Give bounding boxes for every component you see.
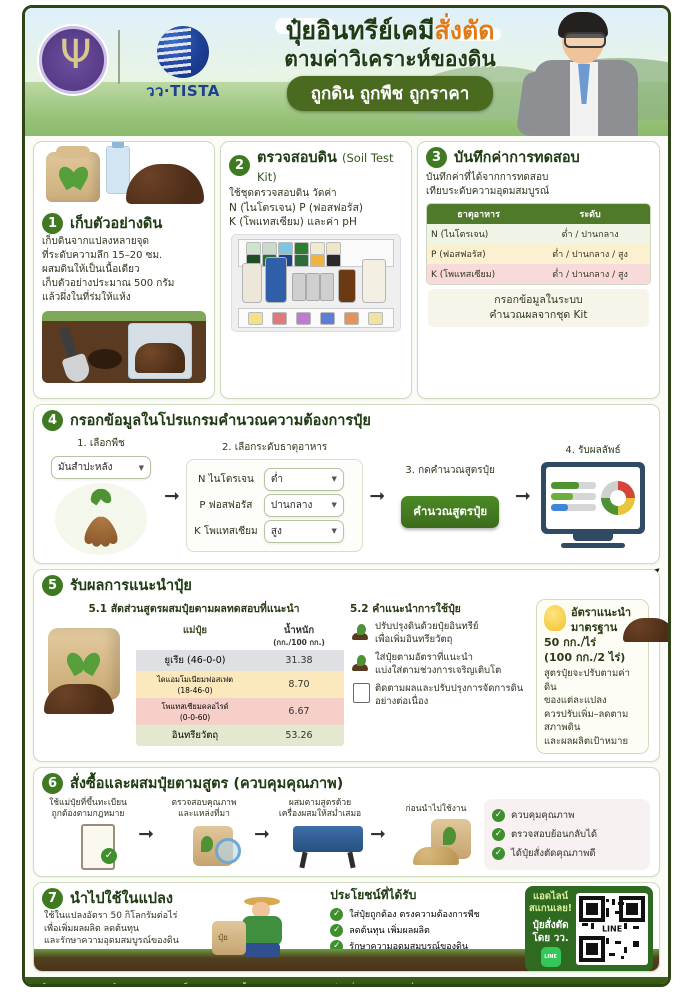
column-header-weight: น้ำหนัก (กก./100 กก.) — [254, 620, 344, 650]
step-3-line: เทียบระดับความอุดมสมบูรณ์ — [426, 185, 651, 199]
color-chip — [248, 312, 263, 325]
rate-title-line: 50 กก./ไร่ — [544, 636, 596, 649]
footer-text: หมายเหตุ : การใช้ชุดตรวจสอบดินเป็นการประ… — [55, 981, 487, 987]
rate-body: สูตรปุ๋ยจะปรับตามค่าดิน ของแต่ละแปลง ควร… — [544, 665, 641, 748]
rate-tip-box: อัตราแนะนำมาตรฐาน 50 กก./ไร่ (100 กก./2 … — [536, 599, 649, 754]
table-row: ไดแอมโมเนียมฟอสเฟต (18-46-0) 8.70 — [136, 671, 344, 698]
bag-magnifier-icon — [159, 822, 249, 870]
soil-test-kit-photo — [231, 234, 401, 332]
farmer-illustration: ปุ๋ย — [230, 897, 296, 957]
mixer-machine-icon — [275, 822, 365, 870]
cassava-plant-illustration — [55, 483, 147, 555]
arrow-right-icon: ➞ — [369, 485, 385, 507]
tistr-logo: วว·TISTA — [135, 26, 231, 103]
cell-name: โพแทสเซียมคลอไรด์ (0-0-60) — [136, 698, 254, 725]
item-line: ถูกต้องตามกฎหมาย — [43, 809, 133, 820]
step-3-title: บันทึกค่าการทดสอบ — [454, 146, 580, 169]
logo-divider — [118, 30, 120, 84]
chevron-down-icon: ▼ — [332, 527, 337, 535]
cell-nutrient: P (ฟอสฟอรัส) — [427, 244, 530, 264]
table-row: K (โพแทสเซียม) ต่ำ / ปานกลาง / สูง — [427, 264, 650, 284]
table-header-row: ธาตุอาหาร ระดับ — [427, 204, 650, 224]
globe-icon — [157, 26, 209, 78]
npk-label-k: K โพแทสเซียม — [194, 524, 258, 539]
advice-line: อย่างต่อเนื่อง — [375, 696, 428, 707]
rate-body-line: และผลผลิตเป้าหมาย — [544, 735, 641, 749]
color-chip — [344, 312, 359, 325]
cell-nutrient: K (โพแทสเซียม) — [427, 264, 530, 284]
step-3-line: บันทึกค่าที่ได้จากการทดสอบ — [426, 171, 651, 185]
column-header-base-fertilizer: แม่ปุ๋ย — [136, 620, 254, 650]
fertilizer-bag-illustration — [44, 622, 130, 718]
npk-select-n[interactable]: ต่ำ ▼ — [264, 468, 344, 491]
crop-select[interactable]: มันสำปะหลัง ▼ — [51, 456, 151, 479]
crop-select-value: มันสำปะหลัง — [58, 460, 112, 475]
step-6-item-2: ตรวจสอบคุณภาพ และแหล่งที่มา — [159, 798, 249, 870]
npk-row-k: K โพแทสเซียม สูง ▼ — [194, 520, 355, 543]
reagent-bottle-icon — [338, 269, 356, 303]
step-4-title: กรอกข้อมูลในโปรแกรมคำนวณความต้องการปุ๋ย — [70, 409, 371, 432]
table-row: อินทรียวัตถุ 53.26 — [136, 725, 344, 746]
color-chip — [310, 254, 325, 267]
advice-text: ใส่ปุ๋ยตามอัตราที่แนะนำ แบ่งใส่ตามช่วงกา… — [375, 651, 501, 677]
title-block: ปุ๋ยอินทรีย์เคมีสั่งตัด ตามค่าวิเคราะห์ข… — [225, 16, 555, 111]
benefits-title: ประโยชน์ที่ได้รับ — [330, 886, 519, 905]
npk-row-n: N ไนโตรเจน ต่ำ ▼ — [194, 468, 355, 491]
item-line: และแหล่งที่มา — [159, 809, 249, 820]
step-1-line: เก็บดินจากแปลงหลายจุด — [42, 235, 206, 249]
chevron-down-icon: ▼ — [332, 475, 337, 483]
cell-name: ไดแอมโมเนียมฟอสเฟต (18-46-0) — [136, 671, 254, 698]
step-number-badge: 2 — [229, 155, 250, 176]
step-number-badge: 1 — [42, 213, 63, 234]
step-7-body: 7 นำไปใช้ในแปลง ใช้ในแปลงอัตรา 50 กิโลกร… — [34, 883, 659, 971]
line-qr-block[interactable]: แอดไลน์ สแกนเลย! ปุ๋ยสั่งตัด โดย วว. — [525, 883, 659, 971]
sprout-icon — [350, 651, 370, 671]
step-6-item-3: ผสมตามสูตรด้วย เครื่องผสมให้สม่ำเสมอ — [275, 798, 365, 870]
soil-pellets-icon — [126, 164, 204, 204]
npk-label-n: N ไนโตรเจน — [194, 472, 258, 487]
step-5-title: รับผลการแนะนำปุ๋ย — [70, 574, 192, 597]
step-3-body: บันทึกค่าที่ได้จากการทดสอบ เทียบระดับควา… — [418, 171, 659, 201]
step-5-1-subtitle: 5.1 สัดส่วนสูตรผสมปุ๋ยตามผลทดสอบที่แนะนำ — [44, 600, 344, 617]
step-4-section: 4 กรอกข้อมูลในโปรแกรมคำนวณความต้องการปุ๋… — [33, 404, 660, 564]
cell-weight: 6.67 — [254, 703, 344, 720]
list-item: ใส่ปุ๋ยตามอัตราที่แนะนำ แบ่งใส่ตามช่วงกา… — [350, 651, 530, 677]
table-row: N (ไนโตรเจน) ต่ำ / ปานกลาง — [427, 224, 650, 244]
qr-head-line: สแกนเลย! — [529, 903, 572, 915]
npk-value-k: สูง — [271, 524, 282, 539]
advice-line: เพื่อเพิ่มอินทรียวัตถุ — [375, 634, 452, 645]
step-3-note: กรอกข้อมูลในระบบ คำนวณผลจากชุด Kit — [428, 289, 649, 327]
chevron-down-icon: ▼ — [332, 501, 337, 509]
step-1-header: 1 เก็บตัวอย่างดิน — [34, 208, 214, 235]
calculate-column: 3. กดคำนวณสูตรปุ๋ย คำนวณสูตรปุ๋ย — [391, 463, 509, 528]
rate-body-line: ควรปรับเพิ่ม–ลดตามสภาพดิน — [544, 708, 641, 735]
footer-note: 📣 หมายเหตุ : การใช้ชุดตรวจสอบดินเป็นการป… — [25, 977, 668, 987]
step-number-badge: 6 — [42, 773, 63, 794]
result-column: 4. รับผลลัพธ์ — [537, 443, 649, 548]
arrow-right-icon: ➞ — [138, 823, 154, 845]
megaphone-icon: 📣 — [35, 982, 49, 988]
arrow-right-icon: ➞ — [164, 485, 180, 507]
page-title: ปุ๋ยอินทรีย์เคมีสั่งตัด — [225, 16, 555, 46]
fertilizer-formula-table: แม่ปุ๋ย น้ำหนัก (กก./100 กก.) ยูเรีย (46… — [136, 620, 344, 746]
qr-card[interactable]: แอดไลน์ สแกนเลย! ปุ๋ยสั่งตัด โดย วว. — [525, 886, 653, 971]
clipboard-check-icon: ✓ — [43, 822, 133, 870]
bottle-icon — [106, 146, 130, 194]
cell-weight: 31.38 — [254, 652, 344, 669]
step-5-body: 5.1 สัดส่วนสูตรผสมปุ๋ยตามผลทดสอบที่แนะนำ… — [34, 599, 659, 761]
person-illustration — [514, 10, 664, 136]
lightbulb-icon — [544, 605, 566, 631]
leaf-icon — [80, 650, 104, 677]
step-3-header: 3 บันทึกค่าการทดสอบ — [418, 142, 659, 171]
advice-list: ปรับปรุงดินด้วยปุ๋ยอินทรีย์ เพื่อเพิ่มอิ… — [350, 620, 530, 708]
column-header-nutrient: ธาตุอาหาร — [427, 204, 530, 224]
step-6-item-4: ก่อนนำไปใช้งาน — [391, 804, 481, 865]
reagent-bottle-icon — [265, 257, 287, 303]
fertilizer-bag-icon — [391, 817, 481, 865]
cell-name: อินทรียวัตถุ — [136, 725, 254, 746]
crop-select-label: 1. เลือกพืช — [44, 436, 158, 451]
item-line: ก่อนนำไปใช้งาน — [391, 804, 481, 815]
note-line: กรอกข้อมูลในระบบ — [431, 293, 646, 308]
step-7-title: นำไปใช้ในแปลง — [70, 887, 173, 910]
npk-select-k[interactable]: สูง ▼ — [264, 520, 344, 543]
trident-emblem-logo — [39, 26, 107, 94]
cell-level: ต่ำ / ปานกลาง / สูง — [530, 264, 650, 284]
column-header-level: ระดับ — [530, 204, 650, 224]
advice-line: ติดตามผลและปรับปรุงการจัดการดิน — [375, 683, 523, 694]
result-label: 4. รับผลลัพธ์ — [537, 443, 649, 458]
step-5-2-subtitle: 5.2 คำแนะนำการใช้ปุ๋ย — [350, 600, 530, 617]
poster-header: วว·TISTA ปุ๋ยอินทรีย์เคมีสั่งตัด ตามค่าว… — [25, 8, 668, 136]
poster-frame: วว·TISTA ปุ๋ยอินทรีย์เคมีสั่งตัด ตามค่าว… — [22, 5, 671, 987]
checklist-item: ✓ ได้ปุ๋ยสั่งตัดคุณภาพดี — [492, 846, 642, 861]
step-6-item-1: ใช้แม่ปุ๋ยที่ขึ้นทะเบียน ถูกต้องตามกฎหมา… — [43, 798, 133, 870]
table-header-row: แม่ปุ๋ย น้ำหนัก (กก./100 กก.) — [136, 620, 344, 650]
step-6-header: 6 สั่งซื้อและผสมปุ๋ยตามสูตร (ควบคุมคุณภา… — [34, 768, 659, 797]
benefit-item: ✓ ลดต้นทุน เพิ่มผลผลิต — [330, 923, 519, 937]
advice-text: ติดตามผลและปรับปรุงการจัดการดิน อย่างต่อ… — [375, 682, 523, 708]
cell-name-sub: (0-0-60) — [138, 713, 252, 722]
advice-text: ปรับปรุงดินด้วยปุ๋ยอินทรีย์ เพื่อเพิ่มอิ… — [375, 620, 478, 646]
nutrient-select-label: 2. เลือกระดับธาตุอาหาร — [186, 440, 363, 455]
test-vial-icon — [292, 273, 306, 301]
rate-body-line: สูตรปุ๋ยจะปรับตามค่าดิน — [544, 667, 641, 694]
npk-value-n: ต่ำ — [271, 472, 283, 487]
weight-label: น้ำหนัก — [284, 625, 314, 636]
formula-table-block: 5.1 สัดส่วนสูตรผสมปุ๋ยตามผลทดสอบที่แนะนำ… — [44, 599, 344, 754]
brand-text: วว·TISTA — [135, 79, 231, 103]
list-item: ปรับปรุงดินด้วยปุ๋ยอินทรีย์ เพื่อเพิ่มอิ… — [350, 620, 530, 646]
monitor-icon — [541, 462, 645, 534]
checklist-item: ✓ ควบคุมคุณภาพ — [492, 808, 642, 823]
step-6-title: สั่งซื้อและผสมปุ๋ยตามสูตร (ควบคุมคุณภาพ) — [70, 772, 343, 795]
npk-select-p[interactable]: ปานกลาง ▼ — [264, 494, 344, 517]
sack-icon — [46, 152, 100, 202]
item-line: ตรวจสอบคุณภาพ — [159, 798, 249, 809]
qr-code-image[interactable]: LINE — [576, 893, 648, 965]
result-bar — [551, 482, 596, 489]
chevron-down-icon: ▼ — [139, 464, 144, 472]
soil-pellets-icon — [623, 618, 671, 642]
item-line: ใช้แม่ปุ๋ยที่ขึ้นทะเบียน — [43, 798, 133, 809]
line-app-icon — [541, 947, 561, 967]
step-2-body: ใช้ชุดตรวจสอบดิน วัดค่า N (ไนโตรเจน) P (… — [221, 187, 411, 231]
rate-body-line: ของแต่ละแปลง — [544, 694, 641, 708]
tagline-banner: ถูกดิน ถูกพืช ถูกราคา — [287, 76, 494, 111]
step-1-line: แล้วผึ่งในที่ร่มให้แห้ง — [42, 291, 206, 305]
check-icon: ✓ — [492, 847, 505, 860]
step-4-header: 4 กรอกข้อมูลในโปรแกรมคำนวณความต้องการปุ๋… — [34, 405, 659, 434]
qr-center-label: LINE — [600, 925, 624, 934]
cell-level: ต่ำ / ปานกลาง — [530, 224, 650, 244]
step-number-badge: 3 — [426, 147, 447, 168]
color-chip — [320, 312, 335, 325]
npk-value-p: ปานกลาง — [271, 498, 312, 513]
qr-sub-line: โดย วว. — [529, 932, 572, 945]
monitor-base — [561, 543, 625, 548]
cell-name: ยูเรีย (46-0-0) — [136, 650, 254, 671]
title-main: ปุ๋ยอินทรีย์เคมี — [286, 16, 435, 45]
checklist-label: ตรวจสอบย้อนกลับได้ — [511, 827, 597, 842]
step-2-card: 2 ตรวจสอบดิน (Soil Test Kit) ใช้ชุดตรวจส… — [220, 141, 412, 399]
standard-rate-block: อัตราแนะนำมาตรฐาน 50 กก./ไร่ (100 กก./2 … — [536, 599, 649, 754]
fertilizer-illustration — [40, 146, 208, 208]
check-icon: ✓ — [330, 924, 343, 937]
reagent-bottle-icon — [242, 263, 262, 303]
step-6-section: 6 สั่งซื้อและผสมปุ๋ยตามสูตร (ควบคุมคุณภา… — [33, 767, 660, 877]
shovel-icon — [59, 326, 80, 363]
list-item: ติดตามผลและปรับปรุงการจัดการดิน อย่างต่อ… — [350, 682, 530, 708]
cell-level: ต่ำ / ปานกลาง / สูง — [530, 244, 650, 264]
steps-1-3-row: 1 เก็บตัวอย่างดิน เก็บดินจากแปลงหลายจุด … — [33, 141, 660, 399]
checklist-label: ได้ปุ๋ยสั่งตัดคุณภาพดี — [511, 846, 596, 861]
result-bar — [551, 504, 596, 511]
advice-line: แบ่งใส่ตามช่วงการเจริญเติบโต — [375, 665, 501, 676]
step-1-line: เก็บตัวอย่างประมาณ 500 กรัม — [42, 277, 206, 291]
npk-row-p: P ฟอสฟอรัส ปานกลาง ▼ — [194, 494, 355, 517]
monitor-stand — [573, 534, 613, 541]
step-2-line: ใช้ชุดตรวจสอบดิน วัดค่า — [229, 187, 403, 201]
check-icon: ✓ — [492, 809, 505, 822]
step-2-title-th: ตรวจสอบดิน — [257, 150, 337, 166]
step-number-badge: 4 — [42, 410, 63, 431]
check-icon: ✓ — [492, 828, 505, 841]
color-chip — [296, 312, 311, 325]
arrow-right-icon: ➞ — [515, 485, 531, 507]
soil-hole — [88, 349, 122, 369]
rate-title-line: อัตราแนะนำมาตรฐาน — [571, 606, 631, 634]
checklist-item: ✓ ตรวจสอบย้อนกลับได้ — [492, 827, 642, 842]
bag-label: ปุ๋ย — [218, 931, 228, 944]
result-bar — [551, 493, 596, 500]
leaf-icon — [96, 487, 113, 506]
result-screen — [546, 467, 640, 529]
table-row: ยูเรีย (46-0-0) 31.38 — [136, 650, 344, 671]
test-vial-icon — [306, 273, 320, 301]
checklist-label: ควบคุมคุณภาพ — [511, 808, 574, 823]
nutrient-select-column: 2. เลือกระดับธาตุอาหาร N ไนโตรเจน ต่ำ ▼ … — [186, 440, 363, 552]
cell-weight: 8.70 — [254, 676, 344, 693]
cell-weight: 53.26 — [254, 727, 344, 744]
npk-select-group: N ไนโตรเจน ต่ำ ▼ P ฟอสฟอรัส ปานกลาง ▼ — [186, 459, 363, 552]
crop-select-column: 1. เลือกพืช มันสำปะหลัง ▼ — [44, 436, 158, 555]
infographic-page: วว·TISTA ปุ๋ยอินทรีย์เคมีสั่งตัด ตามค่าว… — [0, 0, 693, 1000]
item-line: เครื่องผสมให้สม่ำเสมอ — [275, 809, 365, 820]
step-7-section: 7 นำไปใช้ในแปลง ใช้ในแปลงอัตรา 50 กิโลกร… — [33, 882, 660, 972]
table-row: P (ฟอสฟอรัส) ต่ำ / ปานกลาง / สูง — [427, 244, 650, 264]
reagent-bottle-icon — [362, 259, 386, 303]
qr-finder — [579, 896, 605, 922]
advice-line: ใส่ปุ๋ยตามอัตราที่แนะนำ — [375, 652, 473, 663]
step-4-body: 1. เลือกพืช มันสำปะหลัง ▼ ➞ — [34, 434, 659, 563]
step-3-card: 3 บันทึกค่าการทดสอบ บันทึกค่าที่ได้จากกา… — [417, 141, 660, 399]
test-vial-icon — [320, 273, 334, 301]
quality-checklist: ✓ ควบคุมคุณภาพ ✓ ตรวจสอบย้อนกลับได้ ✓ ได… — [484, 799, 650, 870]
sprout-icon — [350, 620, 370, 640]
step-2-line: N (ไนโตรเจน) P (ฟอสฟอรัส) — [229, 201, 403, 215]
color-chip — [368, 312, 383, 325]
soil-pellets-icon — [44, 684, 114, 714]
calculate-formula-button[interactable]: คำนวณสูตรปุ๋ย — [401, 496, 499, 528]
step-1-title: เก็บตัวอย่างดิน — [70, 212, 162, 235]
rate-title-line: (100 กก./2 ไร่) — [544, 651, 625, 664]
soil-sampling-photo — [42, 311, 206, 383]
benefit-item: ✓ ใส่ปุ๋ยถูกต้อง ตรงความต้องการพืช — [330, 907, 519, 921]
benefit-label: ใส่ปุ๋ยถูกต้อง ตรงความต้องการพืช — [349, 907, 479, 921]
step-5-section: 5 รับผลการแนะนำปุ๋ย 5.1 สัดส่วนสูตรผสมปุ… — [33, 569, 660, 762]
qr-finder — [579, 936, 605, 962]
arrow-right-icon: ➞ — [370, 823, 386, 845]
qr-sub-line: ปุ๋ยสั่งตัด — [529, 919, 572, 932]
qr-finder — [619, 896, 645, 922]
item-line: ผสมตามสูตรด้วย — [275, 798, 365, 809]
step-2-title: ตรวจสอบดิน (Soil Test Kit) — [257, 146, 403, 185]
result-donut-chart — [601, 481, 635, 515]
qr-head-line: แอดไลน์ — [529, 891, 572, 903]
advice-line: ปรับปรุงดินด้วยปุ๋ยอินทรีย์ — [375, 621, 478, 632]
step-6-body: ใช้แม่ปุ๋ยที่ขึ้นทะเบียน ถูกต้องตามกฎหมา… — [34, 797, 659, 876]
glasses-icon — [564, 32, 606, 48]
result-bars — [551, 482, 596, 515]
cell-nutrient: N (ไนโตรเจน) — [427, 224, 530, 244]
title-highlight: สั่งตัด — [435, 16, 495, 45]
weight-unit: (กก./100 กก.) — [256, 638, 342, 647]
step-1-body: เก็บดินจากแปลงหลายจุด ที่ระดับความลึก 15… — [34, 235, 214, 307]
check-icon: ✓ — [330, 908, 343, 921]
step-1-line: ผสมดินให้เป็นเนื้อเดียว — [42, 263, 206, 277]
nutrient-level-table: ธาตุอาหาร ระดับ N (ไนโตรเจน) ต่ำ / ปานกล… — [426, 203, 651, 285]
cell-name-text: โพแทสเซียมคลอไรด์ — [161, 702, 228, 711]
step-number-badge: 7 — [42, 888, 63, 909]
note-line: คำนวณผลจากชุด Kit — [431, 308, 646, 323]
arrow-right-icon: ➞ — [254, 823, 270, 845]
step-1-line: ที่ระดับความลึก 15–20 ซม. — [42, 249, 206, 263]
step-1-card: 1 เก็บตัวอย่างดิน เก็บดินจากแปลงหลายจุด … — [33, 141, 215, 399]
color-chip — [326, 254, 341, 267]
table-row: โพแทสเซียมคลอไรด์ (0-0-60) 6.67 — [136, 698, 344, 725]
step-5-header: 5 รับผลการแนะนำปุ๋ย — [34, 570, 659, 599]
step-2-line: K (โพแทสเซียม) และค่า pH — [229, 215, 403, 229]
clipboard-icon — [350, 682, 370, 702]
cell-name-text: ไดแอมโมเนียมฟอสเฟต — [157, 675, 233, 684]
step-number-badge: 5 — [42, 575, 63, 596]
color-chip — [294, 254, 309, 267]
calculate-label: 3. กดคำนวณสูตรปุ๋ย — [391, 463, 509, 478]
zip-bag-icon — [128, 323, 192, 379]
color-chip — [272, 312, 287, 325]
benefit-label: ลดต้นทุน เพิ่มผลผลิต — [349, 923, 430, 937]
npk-label-p: P ฟอสฟอรัส — [194, 498, 258, 513]
step-2-header: 2 ตรวจสอบดิน (Soil Test Kit) — [221, 142, 411, 187]
usage-advice-block: 5.2 คำแนะนำการใช้ปุ๋ย ปรับปรุงดินด้วยปุ๋… — [350, 599, 530, 754]
page-subtitle: ตามค่าวิเคราะห์ของดิน — [225, 46, 555, 72]
cell-name-sub: (18-46-0) — [138, 686, 252, 695]
